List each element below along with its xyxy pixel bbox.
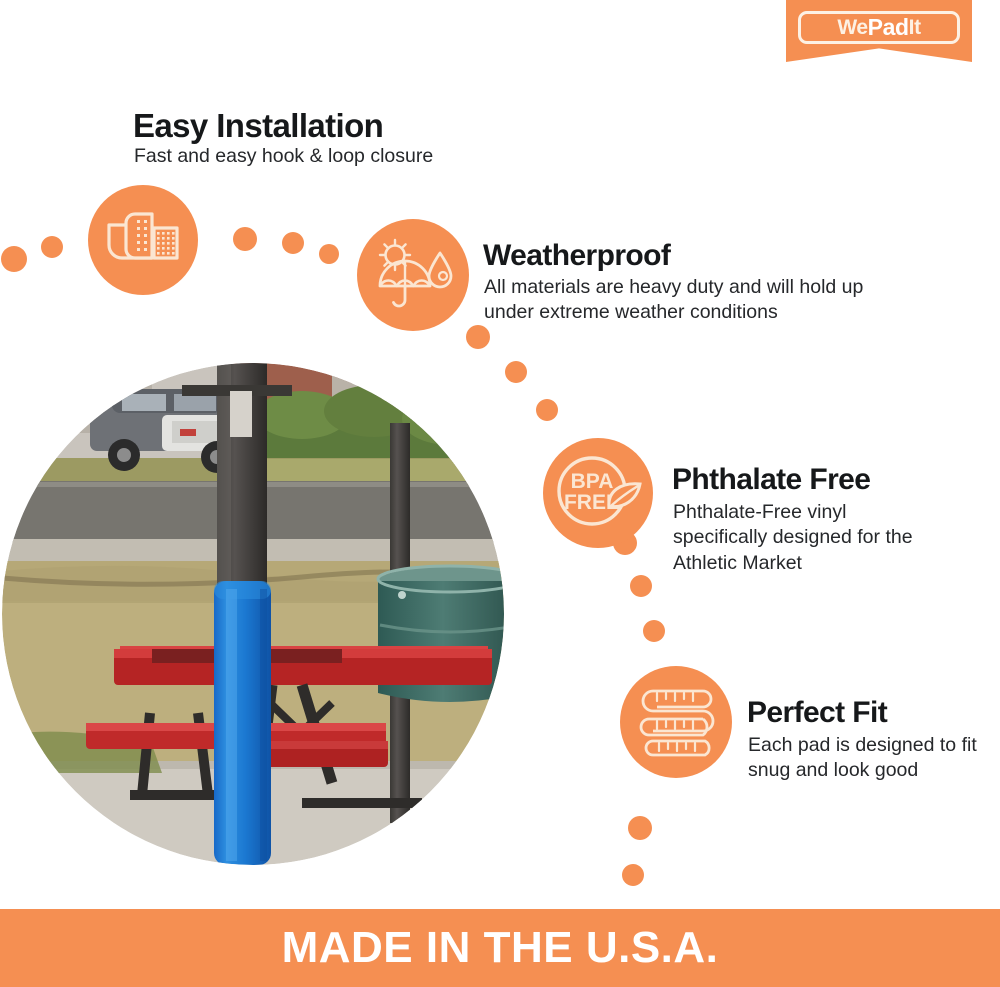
trail-dot bbox=[1, 246, 27, 272]
brand-logo-banner: WePadIt bbox=[786, 0, 972, 62]
feature-icon-phthalate-free: BPA FREE bbox=[543, 438, 653, 548]
trail-dot bbox=[505, 361, 527, 383]
feature-description-easy-installation: Fast and easy hook & loop closure bbox=[134, 144, 554, 170]
feature-description-phthalate-free: Phthalate-Free vinyl specifically design… bbox=[673, 500, 943, 578]
trail-dot bbox=[319, 244, 339, 264]
product-infographic: WePadIt Easy Installation Fast and easy … bbox=[0, 0, 1000, 987]
logo-text-we: We bbox=[837, 17, 867, 38]
trail-dot bbox=[466, 325, 490, 349]
trail-dot bbox=[282, 232, 304, 254]
trail-dot bbox=[233, 227, 257, 251]
trail-dot bbox=[630, 575, 652, 597]
trail-dot bbox=[622, 864, 644, 886]
logo-text-it: It bbox=[909, 17, 921, 38]
made-in-usa-text: MADE IN THE U.S.A. bbox=[282, 923, 719, 973]
feature-title-perfect-fit: Perfect Fit bbox=[747, 696, 887, 730]
trail-dot bbox=[643, 620, 665, 642]
feature-description-weatherproof: All materials are heavy duty and will ho… bbox=[484, 275, 914, 327]
feature-icon-easy-installation bbox=[88, 185, 198, 295]
trail-dot bbox=[41, 236, 63, 258]
trail-dot bbox=[536, 399, 558, 421]
feature-icon-weatherproof bbox=[357, 219, 469, 331]
feature-icon-perfect-fit bbox=[620, 666, 732, 778]
logo-text-pad: Pad bbox=[868, 17, 909, 38]
feature-title-easy-installation: Easy Installation bbox=[133, 107, 383, 145]
trail-dot bbox=[628, 816, 652, 840]
bpa-label: BPA bbox=[571, 470, 614, 493]
feature-title-phthalate-free: Phthalate Free bbox=[672, 463, 870, 497]
hook-and-loop-icon bbox=[106, 211, 180, 269]
feature-title-weatherproof: Weatherproof bbox=[483, 239, 670, 273]
sun-umbrella-raindrop-icon bbox=[373, 238, 453, 312]
made-in-usa-banner: MADE IN THE U.S.A. bbox=[0, 909, 1000, 987]
brand-logo-plate: WePadIt bbox=[798, 11, 960, 44]
bpa-free-leaf-icon: BPA FREE bbox=[552, 451, 644, 535]
feature-description-perfect-fit: Each pad is designed to fit snug and loo… bbox=[748, 733, 978, 785]
product-photo-pole-pad bbox=[2, 363, 504, 865]
measuring-tape-icon bbox=[633, 679, 719, 765]
